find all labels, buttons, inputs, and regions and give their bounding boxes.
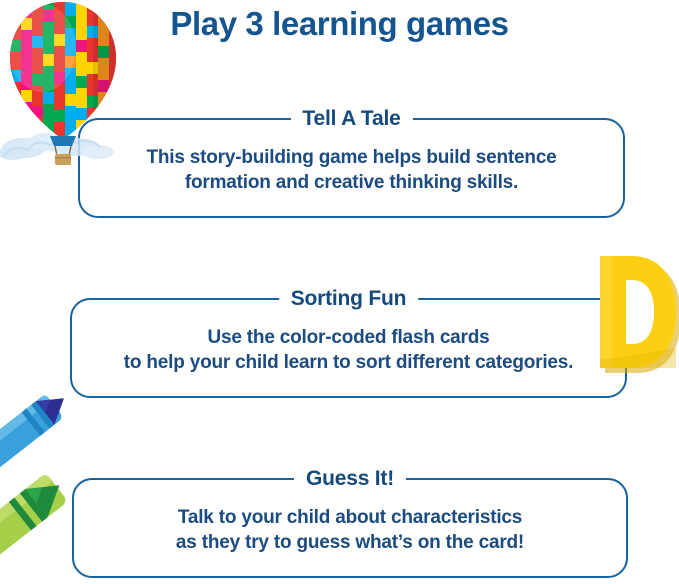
card-body: Talk to your child about characteristics… [74, 505, 626, 555]
card-body-line: Talk to your child about characteristics [84, 505, 616, 530]
promo-graphic: Play 3 learning games [0, 0, 679, 584]
card-body-line: Use the color-coded flash cards [82, 325, 615, 350]
card-body: This story-building game helps build sen… [80, 145, 623, 195]
game-card-tell-a-tale: Tell A Tale This story-building game hel… [78, 118, 625, 218]
page-title: Play 3 learning games [0, 2, 679, 46]
card-body-line: formation and creative thinking skills. [90, 170, 613, 195]
game-card-guess-it: Guess It! Talk to your child about chara… [72, 478, 628, 578]
game-card-sorting-fun: Sorting Fun Use the color-coded flash ca… [70, 298, 627, 398]
card-body: Use the color-coded flash cards to help … [72, 325, 625, 375]
card-body-line: to help your child learn to sort differe… [82, 350, 615, 375]
card-body-line: This story-building game helps build sen… [90, 145, 613, 170]
card-legend: Guess It! [294, 466, 406, 492]
card-body-line: as they try to guess what’s on the card! [84, 530, 616, 555]
card-legend: Sorting Fun [279, 286, 419, 312]
card-legend: Tell A Tale [290, 106, 412, 132]
